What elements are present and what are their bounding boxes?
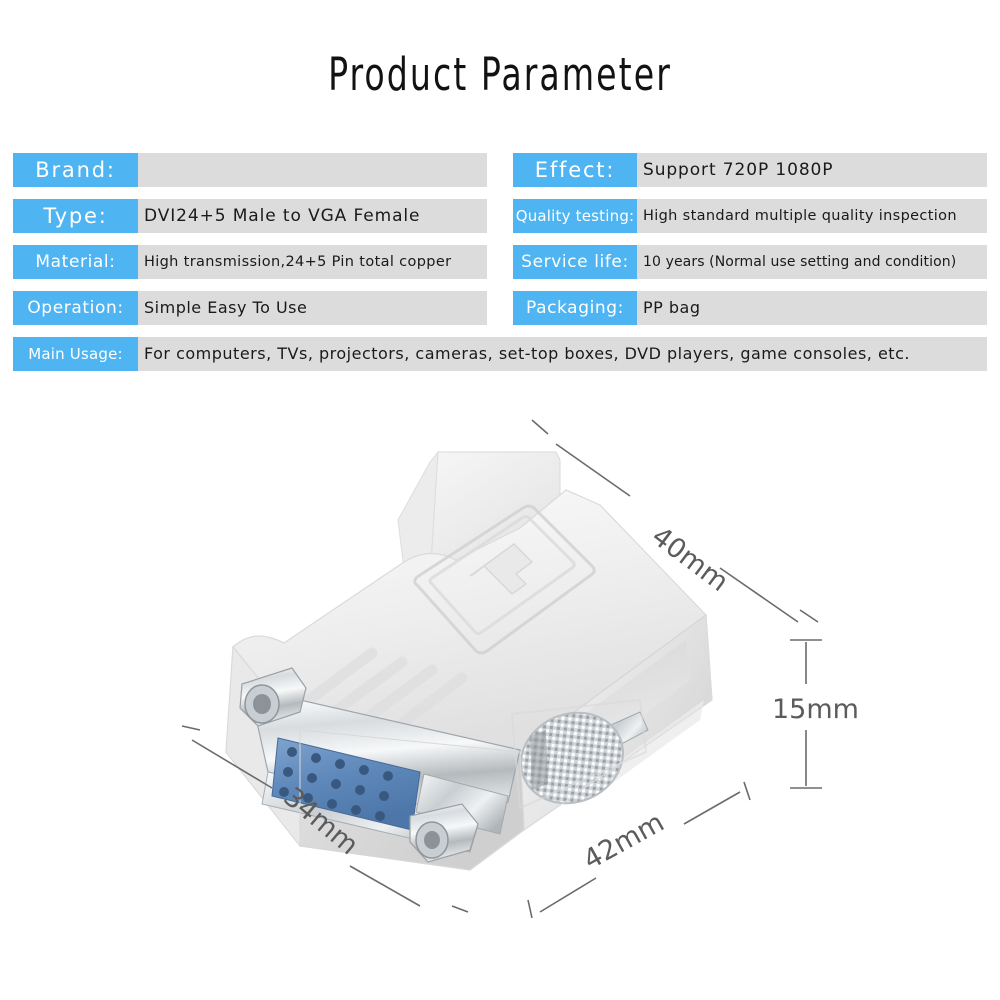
page-title: Product Parameter [90, 48, 910, 101]
spec-row-operation: Operation: Simple Easy To Use [13, 291, 487, 325]
spec-label-quality-testing: Quality testing: [513, 199, 637, 233]
spec-value-service-life: 10 years (Normal use setting and conditi… [637, 245, 987, 279]
spec-row-packaging: Packaging: PP bag [513, 291, 987, 325]
spec-row-type: Type: DVI24+5 Male to VGA Female [13, 199, 487, 233]
spec-label-packaging: Packaging: [513, 291, 637, 325]
spec-label-brand: Brand: [13, 153, 138, 187]
dimension-label-42mm: 42mm [578, 807, 669, 876]
spec-row-material: Material: High transmission,24+5 Pin tot… [13, 245, 487, 279]
dimension-label-15mm: 15mm [772, 694, 859, 725]
spec-row-brand: Brand: [13, 153, 487, 187]
spec-value-brand [138, 153, 487, 187]
spec-row-main-usage: Main Usage: For computers, TVs, projecto… [13, 337, 987, 371]
spec-value-quality-testing: High standard multiple quality inspectio… [637, 199, 987, 233]
spec-row-quality-testing: Quality testing: High standard multiple … [513, 199, 987, 233]
spec-value-packaging: PP bag [637, 291, 987, 325]
product-photo-illustration: 40mm 15mm 42mm 34mm [0, 400, 1000, 1000]
spec-row-effect: Effect: Support 720P 1080P [513, 153, 987, 187]
spec-value-type: DVI24+5 Male to VGA Female [138, 199, 487, 233]
spec-value-main-usage: For computers, TVs, projectors, cameras,… [138, 337, 987, 371]
spec-value-effect: Support 720P 1080P [637, 153, 987, 187]
spec-value-operation: Simple Easy To Use [138, 291, 487, 325]
spec-label-type: Type: [13, 199, 138, 233]
spec-label-effect: Effect: [513, 153, 637, 187]
spec-row-service-life: Service life: 10 years (Normal use setti… [513, 245, 987, 279]
spec-value-material: High transmission,24+5 Pin total copper [138, 245, 487, 279]
spec-label-material: Material: [13, 245, 138, 279]
product-photo: 40mm 15mm 42mm 34mm [0, 400, 1000, 1000]
spec-label-service-life: Service life: [513, 245, 637, 279]
spec-label-main-usage: Main Usage: [13, 337, 138, 371]
spec-label-operation: Operation: [13, 291, 138, 325]
